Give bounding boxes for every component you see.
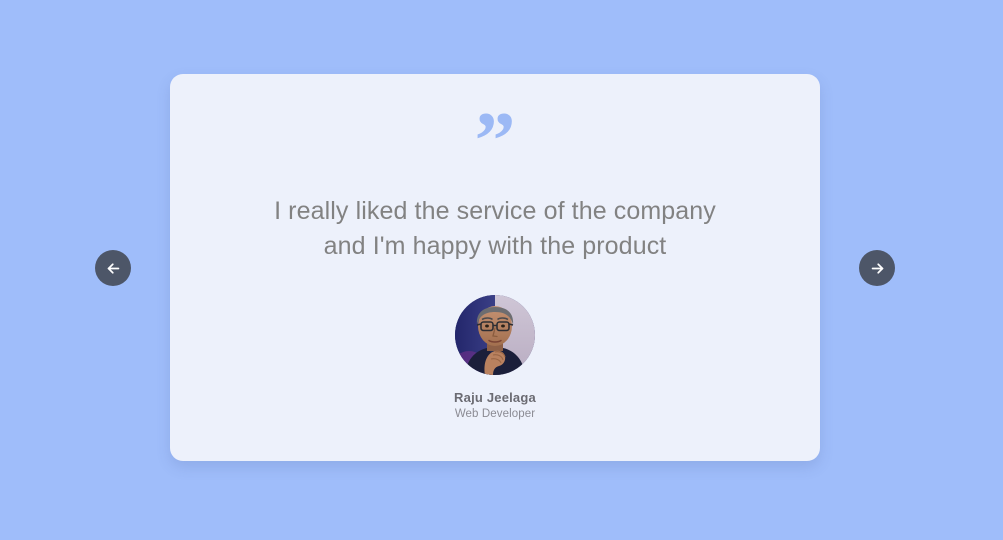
- double-quote-icon: ”: [475, 100, 516, 162]
- quote-line-2: and I'm happy with the product: [215, 229, 775, 264]
- next-button[interactable]: [859, 250, 895, 286]
- arrow-left-icon: [105, 260, 122, 277]
- testimonial-slider: ” I really liked the service of the comp…: [0, 0, 1003, 540]
- quote-line-1: I really liked the service of the compan…: [215, 194, 775, 229]
- author-name: Raju Jeelaga: [454, 390, 536, 405]
- arrow-right-icon: [869, 260, 886, 277]
- author-role: Web Developer: [455, 408, 535, 420]
- prev-button[interactable]: [95, 250, 131, 286]
- testimonial-quote: I really liked the service of the compan…: [215, 194, 775, 264]
- testimonial-card: ” I really liked the service of the comp…: [170, 74, 820, 461]
- testimonial-author: Raju Jeelaga Web Developer: [454, 295, 536, 420]
- avatar: [455, 295, 535, 375]
